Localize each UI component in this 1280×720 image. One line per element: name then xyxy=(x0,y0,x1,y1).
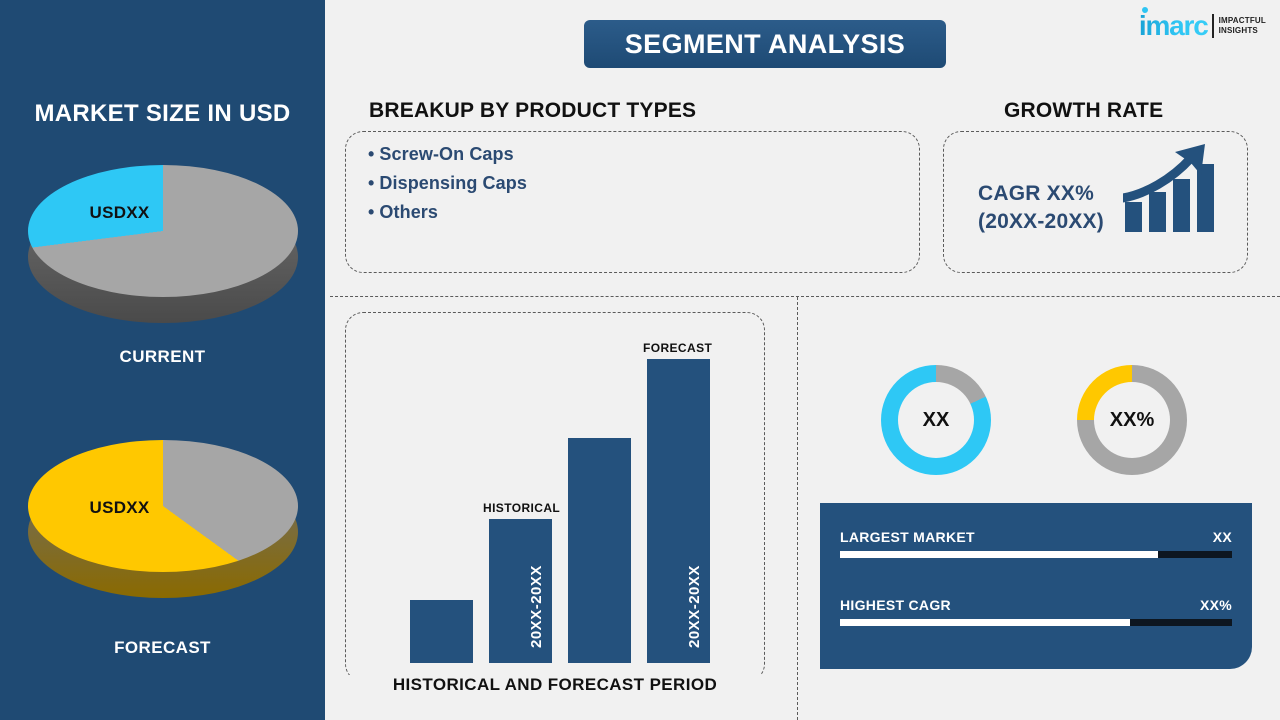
forecast-pie-surface xyxy=(28,440,298,572)
current-pie-3d: USDXX xyxy=(28,165,298,315)
stat-row-highest-cagr: XX% HIGHEST CAGR xyxy=(840,597,1232,626)
bar-4-period-label: 20XX-20XX xyxy=(686,565,703,648)
highest-cagr-progress-track xyxy=(840,619,1232,626)
breakup-list: •Screw-On Caps •Dispensing Caps •Others xyxy=(368,140,527,227)
bar-chart-caption: HISTORICAL AND FORECAST PERIOD xyxy=(345,675,765,695)
vertical-divider xyxy=(797,297,798,720)
highest-cagr-label: HIGHEST CAGR xyxy=(840,597,951,613)
forecast-market-size-chart: USDXX FORECAST xyxy=(0,440,325,658)
logo-divider xyxy=(1212,14,1214,38)
largest-market-donut: XX xyxy=(881,365,991,475)
largest-market-progress-track xyxy=(840,551,1232,558)
cagr-text: CAGR XX% (20XX-20XX) xyxy=(978,180,1104,236)
page-title: SEGMENT ANALYSIS xyxy=(584,20,946,68)
bar-2-top-label: HISTORICAL xyxy=(483,501,560,515)
bullet-dot-icon: • xyxy=(368,173,374,193)
logo-dot-icon xyxy=(1142,7,1148,13)
horizontal-divider xyxy=(330,296,1280,297)
market-size-sidebar: MARKET SIZE IN USD USDXX CURRENT USDXX F… xyxy=(0,0,325,720)
stat-row-largest-market: XX LARGEST MARKET xyxy=(840,529,1232,558)
bar-4-top-label: FORECAST xyxy=(643,341,712,355)
bar-2-period-label: 20XX-20XX xyxy=(528,565,545,648)
bullet-dot-icon: • xyxy=(368,202,374,222)
largest-market-value: XX xyxy=(1213,529,1232,545)
growth-rate-heading: GROWTH RATE xyxy=(1004,99,1163,123)
logo-tagline-line2: INSIGHTS xyxy=(1219,26,1266,36)
largest-market-donut-value: XX xyxy=(898,382,974,458)
growth-arrow-bar-icon xyxy=(1123,142,1223,239)
highest-cagr-donut-value: XX% xyxy=(1094,382,1170,458)
current-pie-surface xyxy=(28,165,298,297)
list-item: •Others xyxy=(368,198,527,227)
logo-word-text: imarc xyxy=(1139,12,1208,40)
forecast-pie-3d: USDXX xyxy=(28,440,298,590)
breakup-heading: BREAKUP BY PRODUCT TYPES xyxy=(369,99,696,123)
imarc-logo: imarc IMPACTFUL INSIGHTS xyxy=(1139,12,1266,40)
bar-3 xyxy=(568,438,631,663)
highest-cagr-progress-fill xyxy=(840,619,1130,626)
stats-panel: XX LARGEST MARKET XX% HIGHEST CAGR xyxy=(820,503,1252,669)
sidebar-title: MARKET SIZE IN USD xyxy=(0,100,325,128)
logo-tagline-line1: IMPACTFUL xyxy=(1219,16,1266,26)
forecast-pie-label: USDXX xyxy=(90,498,150,518)
bullet-dot-icon: • xyxy=(368,144,374,164)
cagr-period: (20XX-20XX) xyxy=(978,208,1104,236)
bar-1 xyxy=(410,600,473,663)
current-pie-caption: CURRENT xyxy=(0,347,325,367)
current-pie-label: USDXX xyxy=(90,203,150,223)
forecast-pie-caption: FORECAST xyxy=(0,638,325,658)
list-item-label: Screw-On Caps xyxy=(379,144,513,164)
largest-market-progress-fill xyxy=(840,551,1158,558)
largest-market-label: LARGEST MARKET xyxy=(840,529,975,545)
highest-cagr-value: XX% xyxy=(1200,597,1232,613)
list-item: •Screw-On Caps xyxy=(368,140,527,169)
list-item: •Dispensing Caps xyxy=(368,169,527,198)
current-market-size-chart: USDXX CURRENT xyxy=(0,165,325,367)
cagr-value: CAGR XX% xyxy=(978,180,1104,208)
logo-tagline: IMPACTFUL INSIGHTS xyxy=(1219,16,1266,36)
list-item-label: Others xyxy=(379,202,438,222)
logo-wordmark: imarc xyxy=(1139,12,1208,40)
list-item-label: Dispensing Caps xyxy=(379,173,527,193)
highest-cagr-donut: XX% xyxy=(1077,365,1187,475)
